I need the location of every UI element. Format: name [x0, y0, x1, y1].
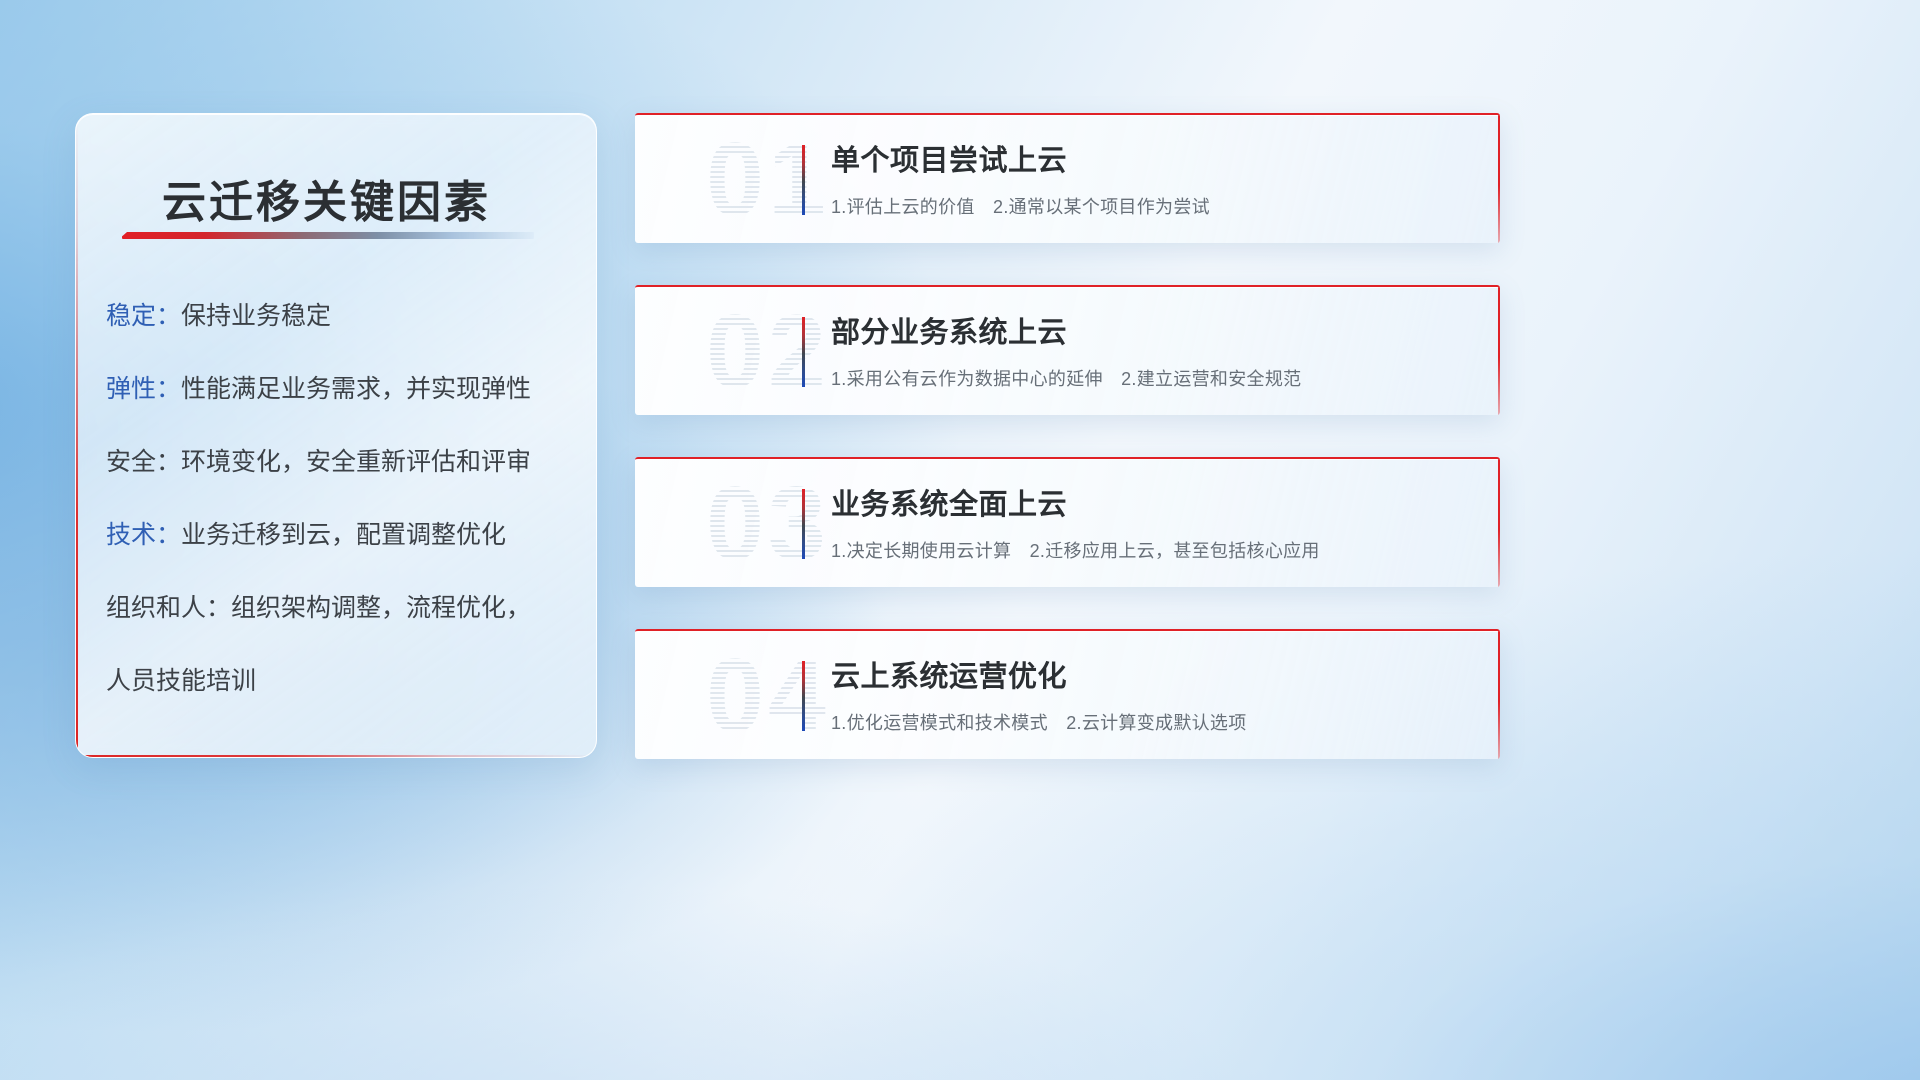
list-item: 组织和人：组织架构调整，流程优化，: [106, 596, 576, 621]
list-item: 人员技能培训: [106, 669, 576, 694]
step-divider-bar: [802, 317, 805, 387]
step-card-01[interactable]: 01 单个项目尝试上云 1.评估上云的价值 2.通常以某个项目作为尝试: [635, 113, 1500, 243]
panel-left-accent-bar: [76, 114, 78, 757]
step-title: 部分业务系统上云: [831, 309, 1067, 351]
list-item-value: 业务迁移到云，配置调整优化: [181, 521, 506, 549]
list-item: 稳定：保持业务稳定: [106, 304, 576, 329]
list-item-value: 人员技能培训: [106, 667, 256, 695]
list-item: 弹性：性能满足业务需求，并实现弹性: [106, 377, 576, 402]
list-item-value: 组织架构调整，流程优化，: [231, 594, 531, 622]
list-item-label: 技术：: [106, 521, 181, 549]
step-subtitle: 1.采用公有云作为数据中心的延伸 2.建立运营和安全规范: [831, 365, 1301, 391]
key-factors-panel: 云迁移关键因素 稳定：保持业务稳定 弹性：性能满足业务需求，并实现弹性 安全：环…: [75, 113, 597, 758]
list-item: 安全：环境变化，安全重新评估和评审: [106, 450, 576, 475]
list-item-label: 稳定：: [106, 302, 181, 330]
page-title: 云迁移关键因素: [162, 166, 491, 230]
step-card-04[interactable]: 04 云上系统运营优化 1.优化运营模式和技术模式 2.云计算变成默认选项: [635, 629, 1500, 759]
key-factors-list: 稳定：保持业务稳定 弹性：性能满足业务需求，并实现弹性 安全：环境变化，安全重新…: [106, 304, 576, 742]
step-title: 云上系统运营优化: [831, 653, 1067, 695]
step-subtitle: 1.评估上云的价值 2.通常以某个项目作为尝试: [831, 193, 1210, 219]
step-divider-bar: [802, 145, 805, 215]
step-subtitle: 1.优化运营模式和技术模式 2.云计算变成默认选项: [831, 709, 1247, 735]
panel-bottom-accent-bar: [76, 755, 596, 757]
list-item: 技术：业务迁移到云，配置调整优化: [106, 523, 576, 548]
list-item-value: 保持业务稳定: [181, 302, 331, 330]
slide-canvas: 云迁移关键因素 稳定：保持业务稳定 弹性：性能满足业务需求，并实现弹性 安全：环…: [0, 0, 1920, 1080]
list-item-label: 安全：: [106, 448, 181, 476]
title-underline-gradient: [122, 232, 534, 239]
list-item-label: 弹性：: [106, 375, 181, 403]
step-title: 单个项目尝试上云: [831, 137, 1067, 179]
step-card-03[interactable]: 03 业务系统全面上云 1.决定长期使用云计算 2.迁移应用上云，甚至包括核心应…: [635, 457, 1500, 587]
list-item-label: 组织和人：: [106, 594, 231, 622]
step-divider-bar: [802, 661, 805, 731]
step-subtitle: 1.决定长期使用云计算 2.迁移应用上云，甚至包括核心应用: [831, 537, 1320, 563]
step-card-02[interactable]: 02 部分业务系统上云 1.采用公有云作为数据中心的延伸 2.建立运营和安全规范: [635, 285, 1500, 415]
step-title: 业务系统全面上云: [831, 481, 1067, 523]
list-item-value: 性能满足业务需求，并实现弹性: [181, 375, 531, 403]
list-item-value: 环境变化，安全重新评估和评审: [181, 448, 531, 476]
step-divider-bar: [802, 489, 805, 559]
